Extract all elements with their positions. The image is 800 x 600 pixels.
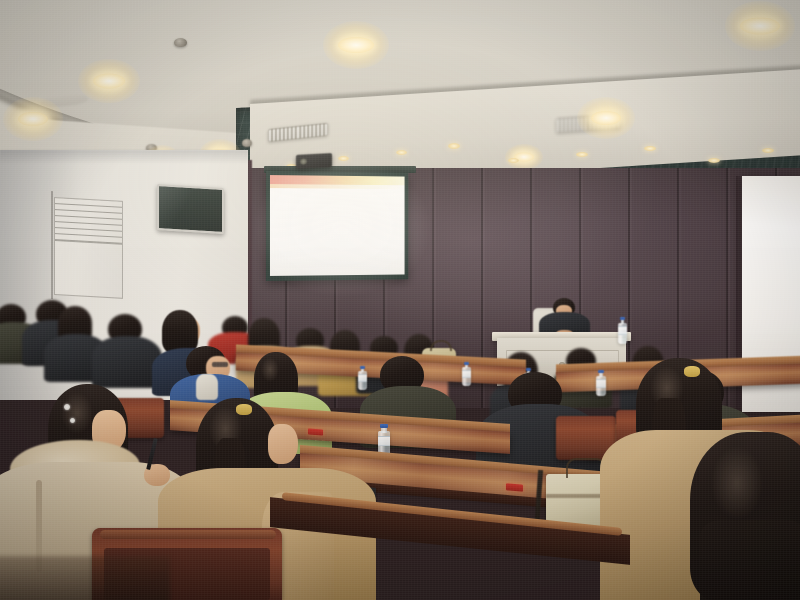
left-wall-cornice — [0, 150, 248, 164]
tv-screen-reflection — [159, 186, 222, 232]
foreground-shadow-left — [0, 556, 170, 600]
grid-light-8 — [708, 158, 720, 163]
door-jamb — [51, 191, 53, 299]
projector-lens-icon — [300, 158, 307, 164]
downlight-7 — [726, 2, 794, 50]
sprinkler-head-1-icon — [174, 38, 187, 47]
grid-light-9 — [762, 148, 774, 153]
louvered-vent-door[interactable] — [54, 197, 123, 299]
downlight-6 — [578, 98, 634, 138]
water-bottle-row-4 — [462, 362, 471, 386]
sprinkler-head-3-icon — [242, 139, 252, 147]
downlight-1 — [4, 98, 62, 140]
grid-light-6 — [576, 152, 588, 157]
door-louver-slats — [55, 198, 122, 245]
wall-mounted-tv[interactable] — [157, 184, 224, 234]
attendee-front-right-shoulders — [700, 520, 800, 600]
eyeglasses-icon — [212, 362, 228, 367]
grid-light-2 — [338, 156, 349, 161]
handbag-tan-handle — [430, 340, 452, 351]
grid-light-7 — [644, 146, 656, 151]
water-bottle-row-3 — [358, 366, 367, 390]
downlight-5 — [324, 22, 388, 68]
slide-header-band-soft — [270, 184, 405, 189]
water-bottle-row-5 — [596, 370, 606, 396]
hair-clip-1-icon — [64, 404, 70, 410]
projection-screen-surface — [270, 175, 405, 276]
grid-light-5 — [508, 158, 519, 163]
projection-screen[interactable] — [266, 171, 408, 281]
desk-nameplate-1 — [308, 428, 323, 435]
attendee-front-center-face — [268, 424, 298, 464]
hair-tie-icon — [236, 404, 252, 415]
ceiling-projector — [296, 153, 332, 169]
hair-clip-2-icon — [70, 418, 75, 423]
grid-light-3 — [396, 150, 407, 155]
auditorium-chair-foreground-rail — [100, 530, 276, 539]
attendee-blue-jacket-collar — [196, 374, 218, 400]
downlight-2 — [80, 60, 138, 102]
grid-light-4 — [448, 143, 460, 149]
downlight-8 — [506, 144, 542, 170]
hair-tie-2-icon — [684, 366, 700, 377]
water-bottle-stage — [618, 317, 627, 344]
lecture-hall-photo — [0, 0, 800, 600]
desk-nameplate-2 — [506, 483, 523, 491]
